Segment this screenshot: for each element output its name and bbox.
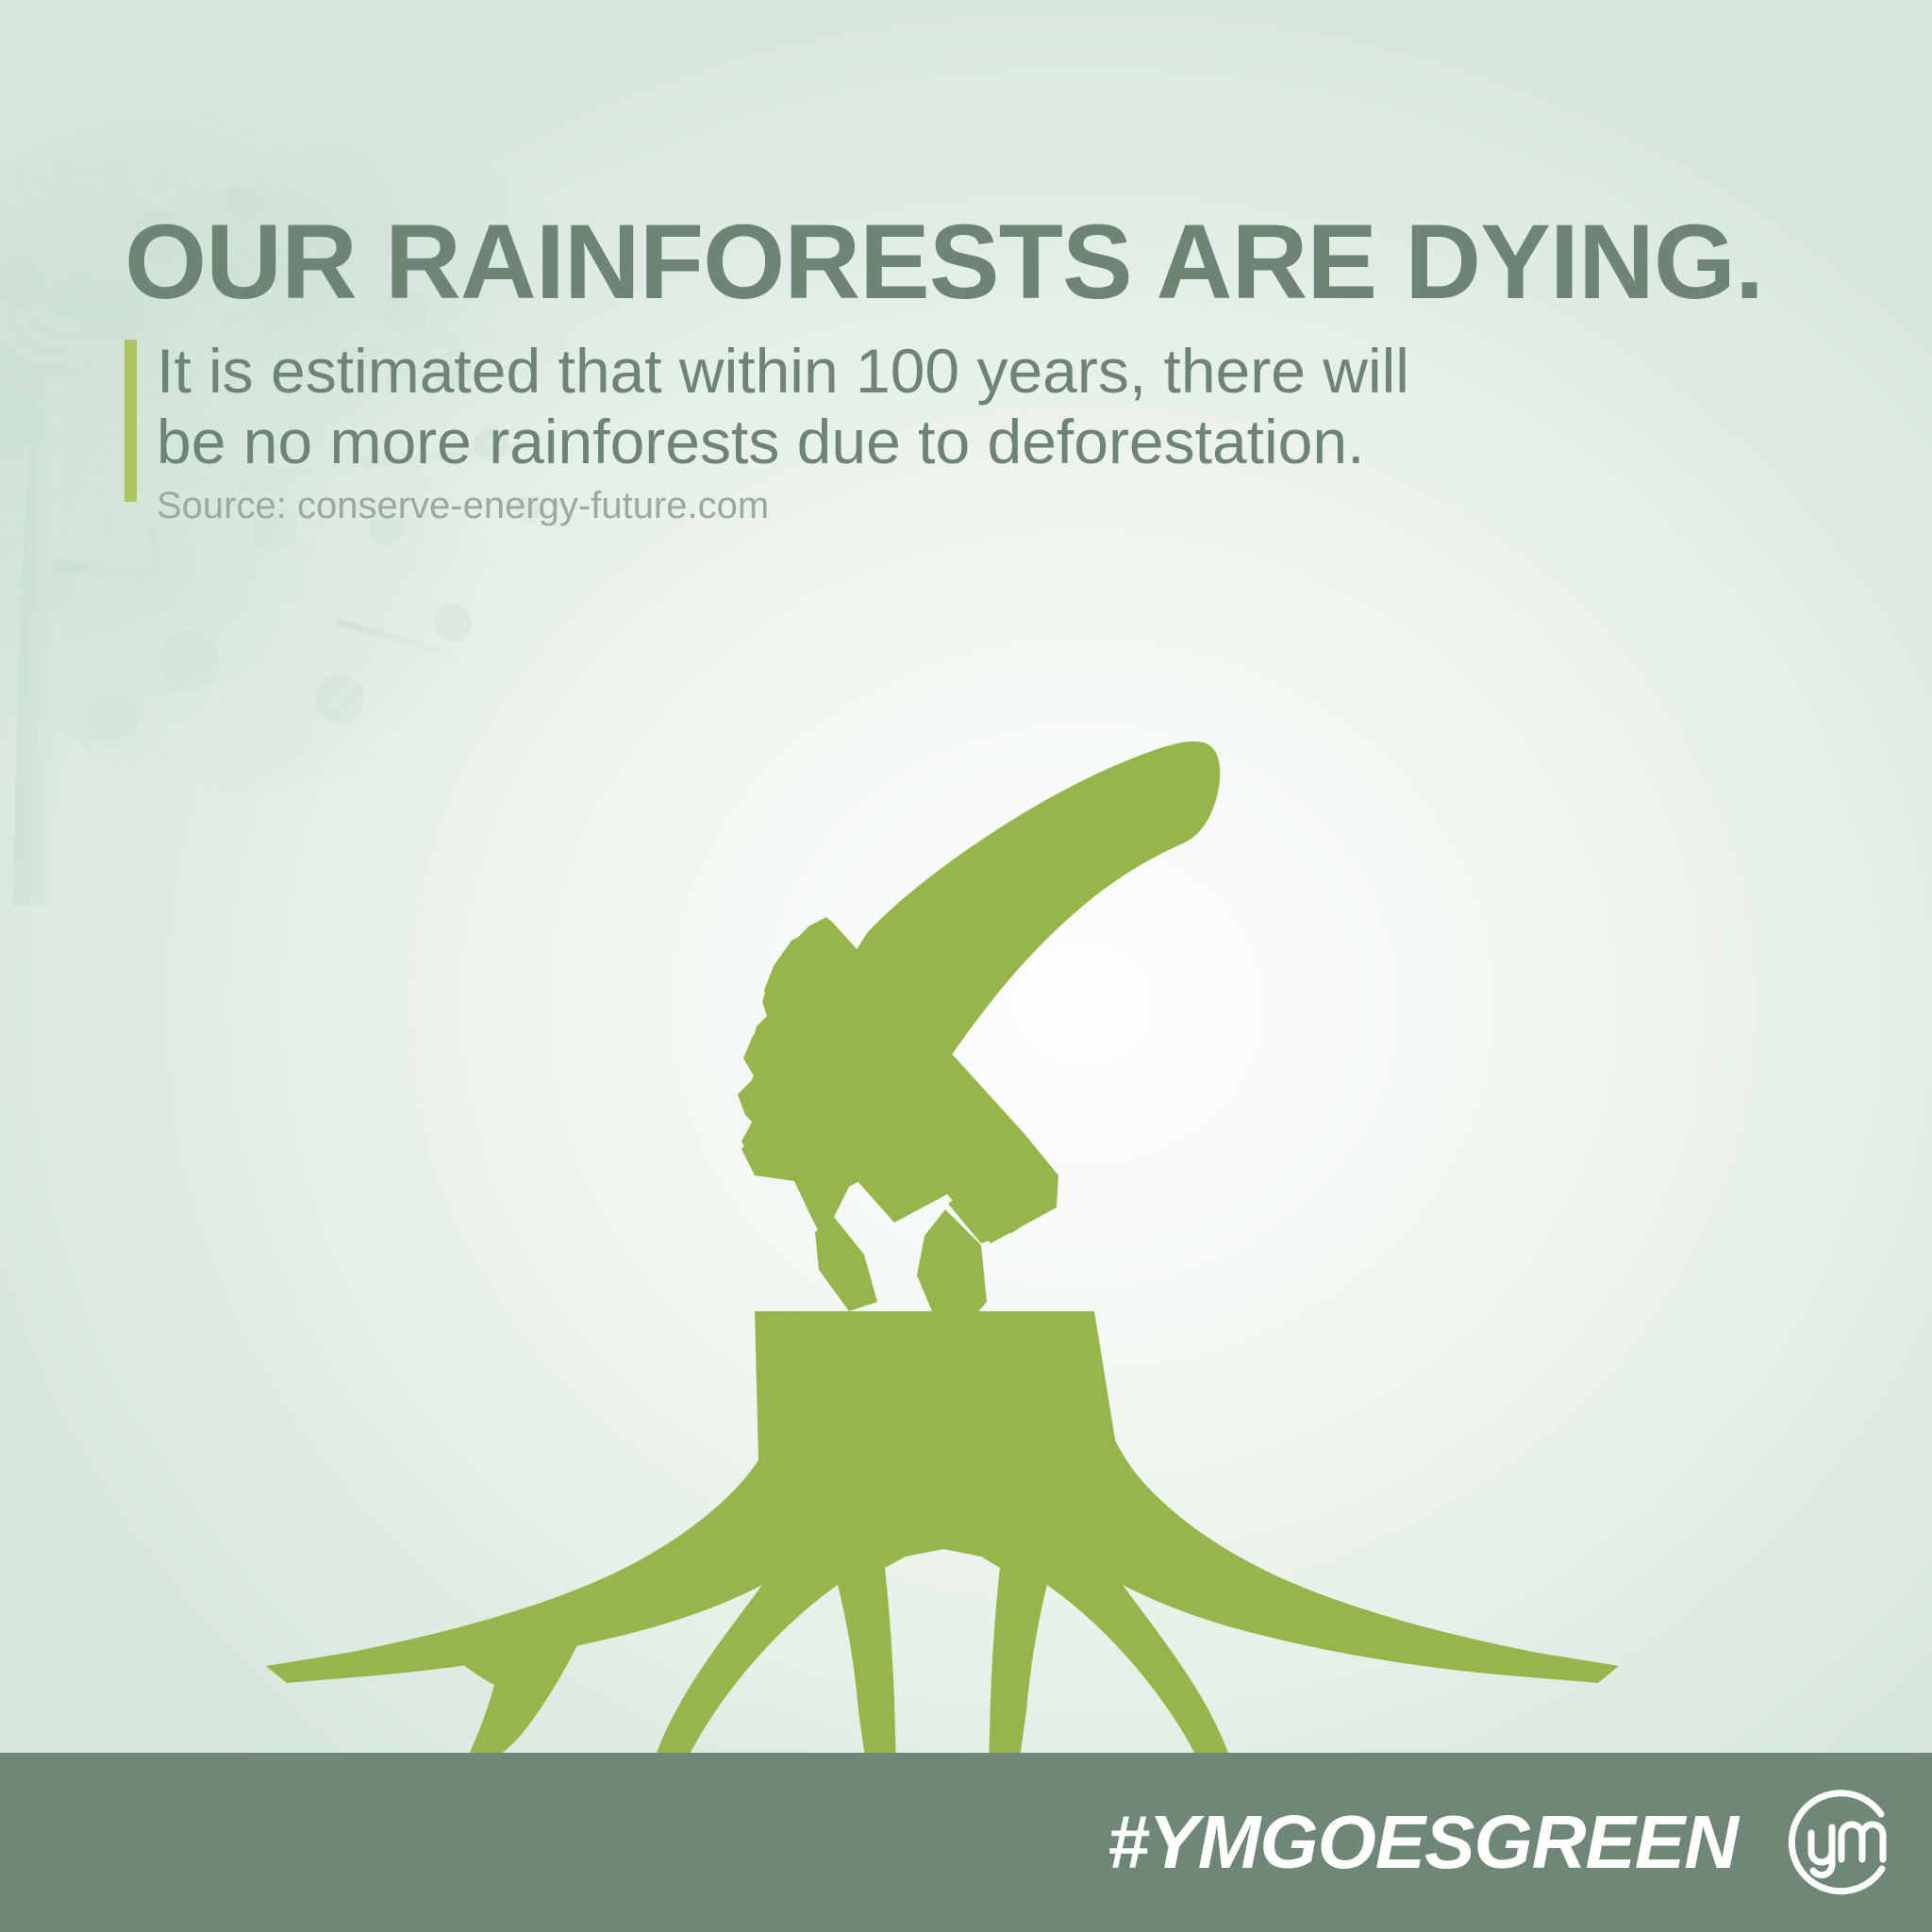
- headline-block: OUR RAINFORESTS ARE DYING. It is estimat…: [125, 209, 1841, 526]
- subtitle-group: It is estimated that within 100 years, t…: [125, 336, 1841, 526]
- footer-bar: #YMGOESGREEN: [0, 1753, 1932, 1932]
- ym-circle-logo-icon: [1775, 1780, 1900, 1905]
- source-attribution: Source: conserve-energy-future.com: [157, 485, 1841, 526]
- poster-canvas: OUR RAINFORESTS ARE DYING. It is estimat…: [0, 0, 1932, 1932]
- hashtag-label: #YMGOESGREEN: [1108, 1799, 1738, 1886]
- subtitle-text: It is estimated that within 100 years, t…: [157, 336, 1477, 477]
- axe-in-tree-stump-illustration: [0, 651, 1932, 1764]
- page-title: OUR RAINFORESTS ARE DYING.: [125, 209, 1841, 315]
- accent-bar: [125, 340, 137, 502]
